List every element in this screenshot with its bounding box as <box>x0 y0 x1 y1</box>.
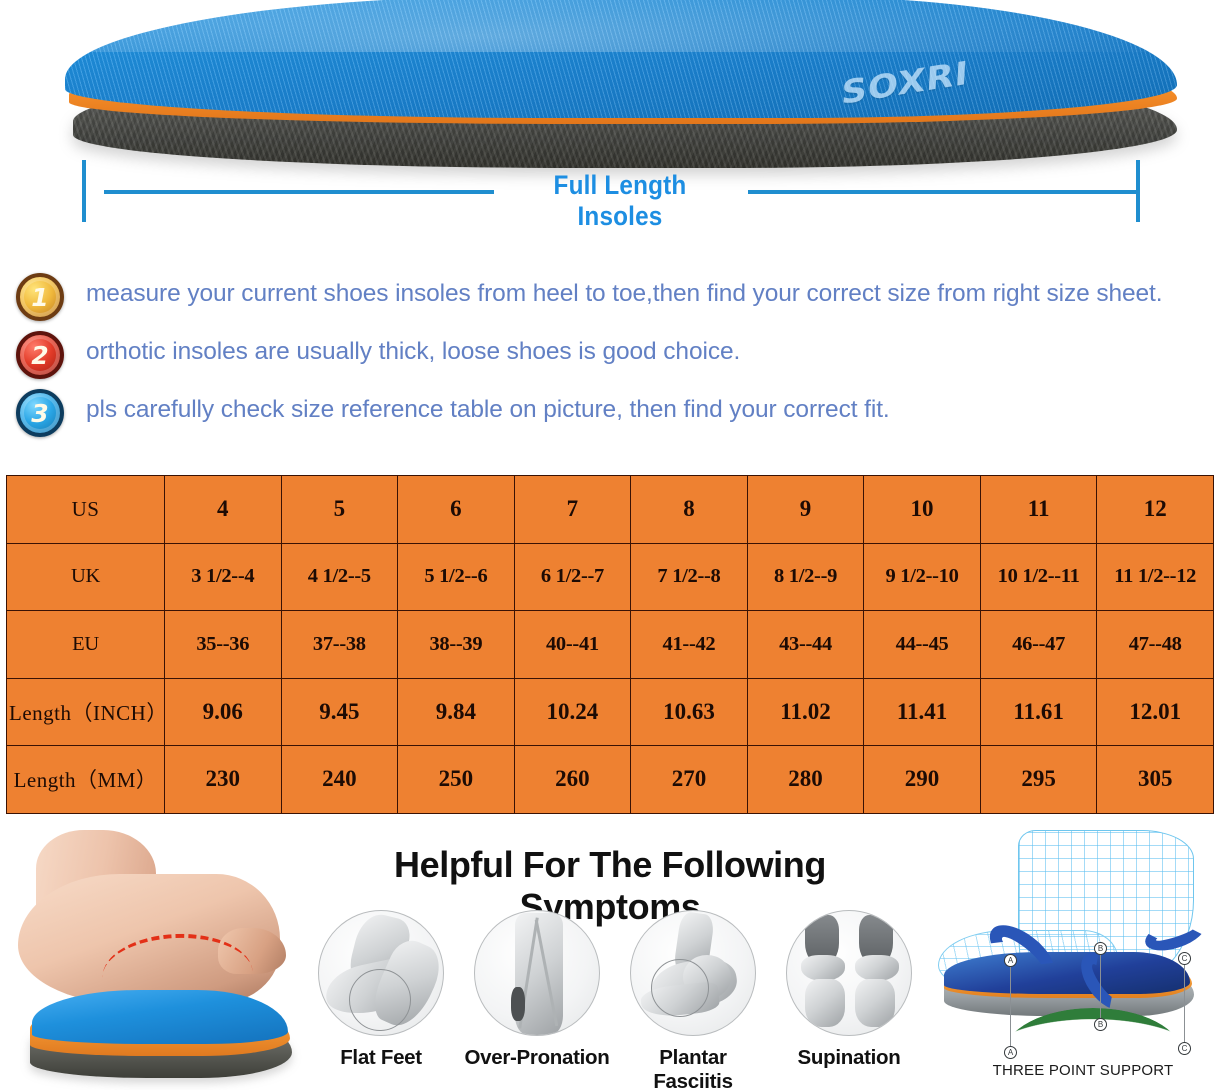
table-row: Length（MM） 230 240 250 260 270 280 290 2… <box>7 746 1214 814</box>
cell-uk-2: 5 1/2--6 <box>398 543 515 611</box>
note-item: 1 measure your current shoes insoles fro… <box>8 267 1218 325</box>
table-row: Length（INCH） 9.06 9.45 9.84 10.24 10.63 … <box>7 678 1214 746</box>
supination-icon <box>786 910 912 1036</box>
cell-uk-0: 3 1/2--4 <box>165 543 282 611</box>
cell-us-3: 7 <box>514 476 631 544</box>
cell-mm-8: 305 <box>1097 746 1214 814</box>
note-item: 3 pls carefully check size reference tab… <box>8 383 1218 441</box>
insole-3d-illustration <box>24 990 294 1082</box>
cell-us-2: 6 <box>398 476 515 544</box>
bracket-tick-left <box>82 160 86 222</box>
leader-line-b <box>1100 954 1101 1020</box>
cell-mm-6: 290 <box>864 746 981 814</box>
foot-arch-illustration <box>6 828 306 1083</box>
note-text-3: pls carefully check size reference table… <box>86 393 1206 427</box>
plantar-fasciitis-icon <box>630 910 756 1036</box>
point-marker-b-lower: B <box>1094 1018 1107 1031</box>
cell-uk-6: 9 1/2--10 <box>864 543 981 611</box>
table-row: UK 3 1/2--4 4 1/2--5 5 1/2--6 6 1/2--7 7… <box>7 543 1214 611</box>
symptom-item-over-pronation: Over-Pronation <box>462 910 612 1070</box>
cell-uk-8: 11 1/2--12 <box>1097 543 1214 611</box>
cell-inch-8: 12.01 <box>1097 678 1214 746</box>
note-badge-3-icon: 3 <box>16 389 64 437</box>
point-marker-b: B <box>1094 942 1107 955</box>
cell-inch-5: 11.02 <box>747 678 864 746</box>
cell-us-1: 5 <box>281 476 398 544</box>
cell-inch-6: 11.41 <box>864 678 981 746</box>
point-marker-c-lower: C <box>1178 1042 1191 1055</box>
cell-mm-1: 240 <box>281 746 398 814</box>
cell-eu-8: 47--48 <box>1097 611 1214 679</box>
cell-us-7: 11 <box>980 476 1097 544</box>
length-bracket: Full Length Insoles <box>0 160 1220 222</box>
symptoms-grid: Flat Feet Over-Pronation Plantar Fasciit… <box>300 910 930 1088</box>
symptom-item-flat-feet: Flat Feet <box>306 910 456 1070</box>
cell-uk-5: 8 1/2--9 <box>747 543 864 611</box>
symptom-item-supination: Supination <box>774 910 924 1070</box>
cell-inch-2: 9.84 <box>398 678 515 746</box>
point-marker-c: C <box>1178 952 1191 965</box>
cell-eu-5: 43--44 <box>747 611 864 679</box>
cell-eu-7: 46--47 <box>980 611 1097 679</box>
cell-inch-4: 10.63 <box>631 678 748 746</box>
leader-line-c <box>1184 964 1185 1044</box>
cell-mm-7: 295 <box>980 746 1097 814</box>
table-row: EU 35--36 37--38 38--39 40--41 41--42 43… <box>7 611 1214 679</box>
product-infographic: SOXRI Full Length Insoles 1 measure your… <box>0 0 1220 1090</box>
cell-eu-1: 37--38 <box>281 611 398 679</box>
cell-eu-3: 40--41 <box>514 611 631 679</box>
over-pronation-icon <box>474 910 600 1036</box>
cell-uk-4: 7 1/2--8 <box>631 543 748 611</box>
cell-inch-1: 9.45 <box>281 678 398 746</box>
symptoms-section: Helpful For The Following Symptoms Flat … <box>0 820 1220 1090</box>
point-marker-a-lower: A <box>1004 1046 1017 1059</box>
symptom-item-plantar-fasciitis: Plantar Fasciitis <box>618 910 768 1090</box>
cell-uk-7: 10 1/2--11 <box>980 543 1097 611</box>
cell-us-8: 12 <box>1097 476 1214 544</box>
cell-inch-3: 10.24 <box>514 678 631 746</box>
size-chart-table: US 4 5 6 7 8 9 10 11 12 UK 3 1/2--4 4 1/… <box>6 475 1214 814</box>
insole-art-blue <box>32 990 288 1044</box>
leader-line-a <box>1010 966 1011 1048</box>
cell-uk-1: 4 1/2--5 <box>281 543 398 611</box>
cell-inch-7: 11.61 <box>980 678 1097 746</box>
cell-mm-2: 250 <box>398 746 515 814</box>
cell-mm-0: 230 <box>165 746 282 814</box>
note-text-1: measure your current shoes insoles from … <box>86 277 1206 311</box>
cell-uk-3: 6 1/2--7 <box>514 543 631 611</box>
cell-us-4: 8 <box>631 476 748 544</box>
symptom-label-2: Plantar Fasciitis <box>618 1046 768 1090</box>
note-text-2: orthotic insoles are usually thick, loos… <box>86 335 1206 369</box>
cell-us-6: 10 <box>864 476 981 544</box>
cell-eu-4: 41--42 <box>631 611 748 679</box>
cell-inch-0: 9.06 <box>165 678 282 746</box>
symptom-label-1: Over-Pronation <box>462 1046 612 1070</box>
cell-mm-4: 270 <box>631 746 748 814</box>
bracket-title: Full Length Insoles <box>512 170 728 232</box>
sizing-notes: 1 measure your current shoes insoles fro… <box>0 262 1220 458</box>
cell-eu-6: 44--45 <box>864 611 981 679</box>
table-row: US 4 5 6 7 8 9 10 11 12 <box>7 476 1214 544</box>
row-label-uk: UK <box>7 543 165 611</box>
tps-insole-blue <box>944 952 1190 994</box>
cell-mm-3: 260 <box>514 746 631 814</box>
cell-mm-5: 280 <box>747 746 864 814</box>
symptom-label-3: Supination <box>774 1046 924 1070</box>
flat-feet-icon <box>318 910 444 1036</box>
cell-us-5: 9 <box>747 476 864 544</box>
three-point-caption: THREE POINT SUPPORT <box>968 1062 1198 1079</box>
bracket-line-left <box>104 190 494 194</box>
row-label-us: US <box>7 476 165 544</box>
note-item: 2 orthotic insoles are usually thick, lo… <box>8 325 1218 383</box>
bracket-line-right <box>748 190 1136 194</box>
row-label-eu: EU <box>7 611 165 679</box>
row-label-length-inch: Length（INCH） <box>7 678 165 746</box>
three-point-support-diagram: A B C A B C THREE POINT SUPPORT <box>930 826 1218 1088</box>
cell-us-0: 4 <box>165 476 282 544</box>
cell-eu-0: 35--36 <box>165 611 282 679</box>
symptom-label-0: Flat Feet <box>306 1046 456 1070</box>
note-badge-1-icon: 1 <box>16 273 64 321</box>
row-label-length-mm: Length（MM） <box>7 746 165 814</box>
cell-eu-2: 38--39 <box>398 611 515 679</box>
note-badge-2-icon: 2 <box>16 331 64 379</box>
bracket-tick-right <box>1136 160 1140 222</box>
point-marker-a: A <box>1004 954 1017 967</box>
insole-blue-fabric <box>65 0 1177 118</box>
